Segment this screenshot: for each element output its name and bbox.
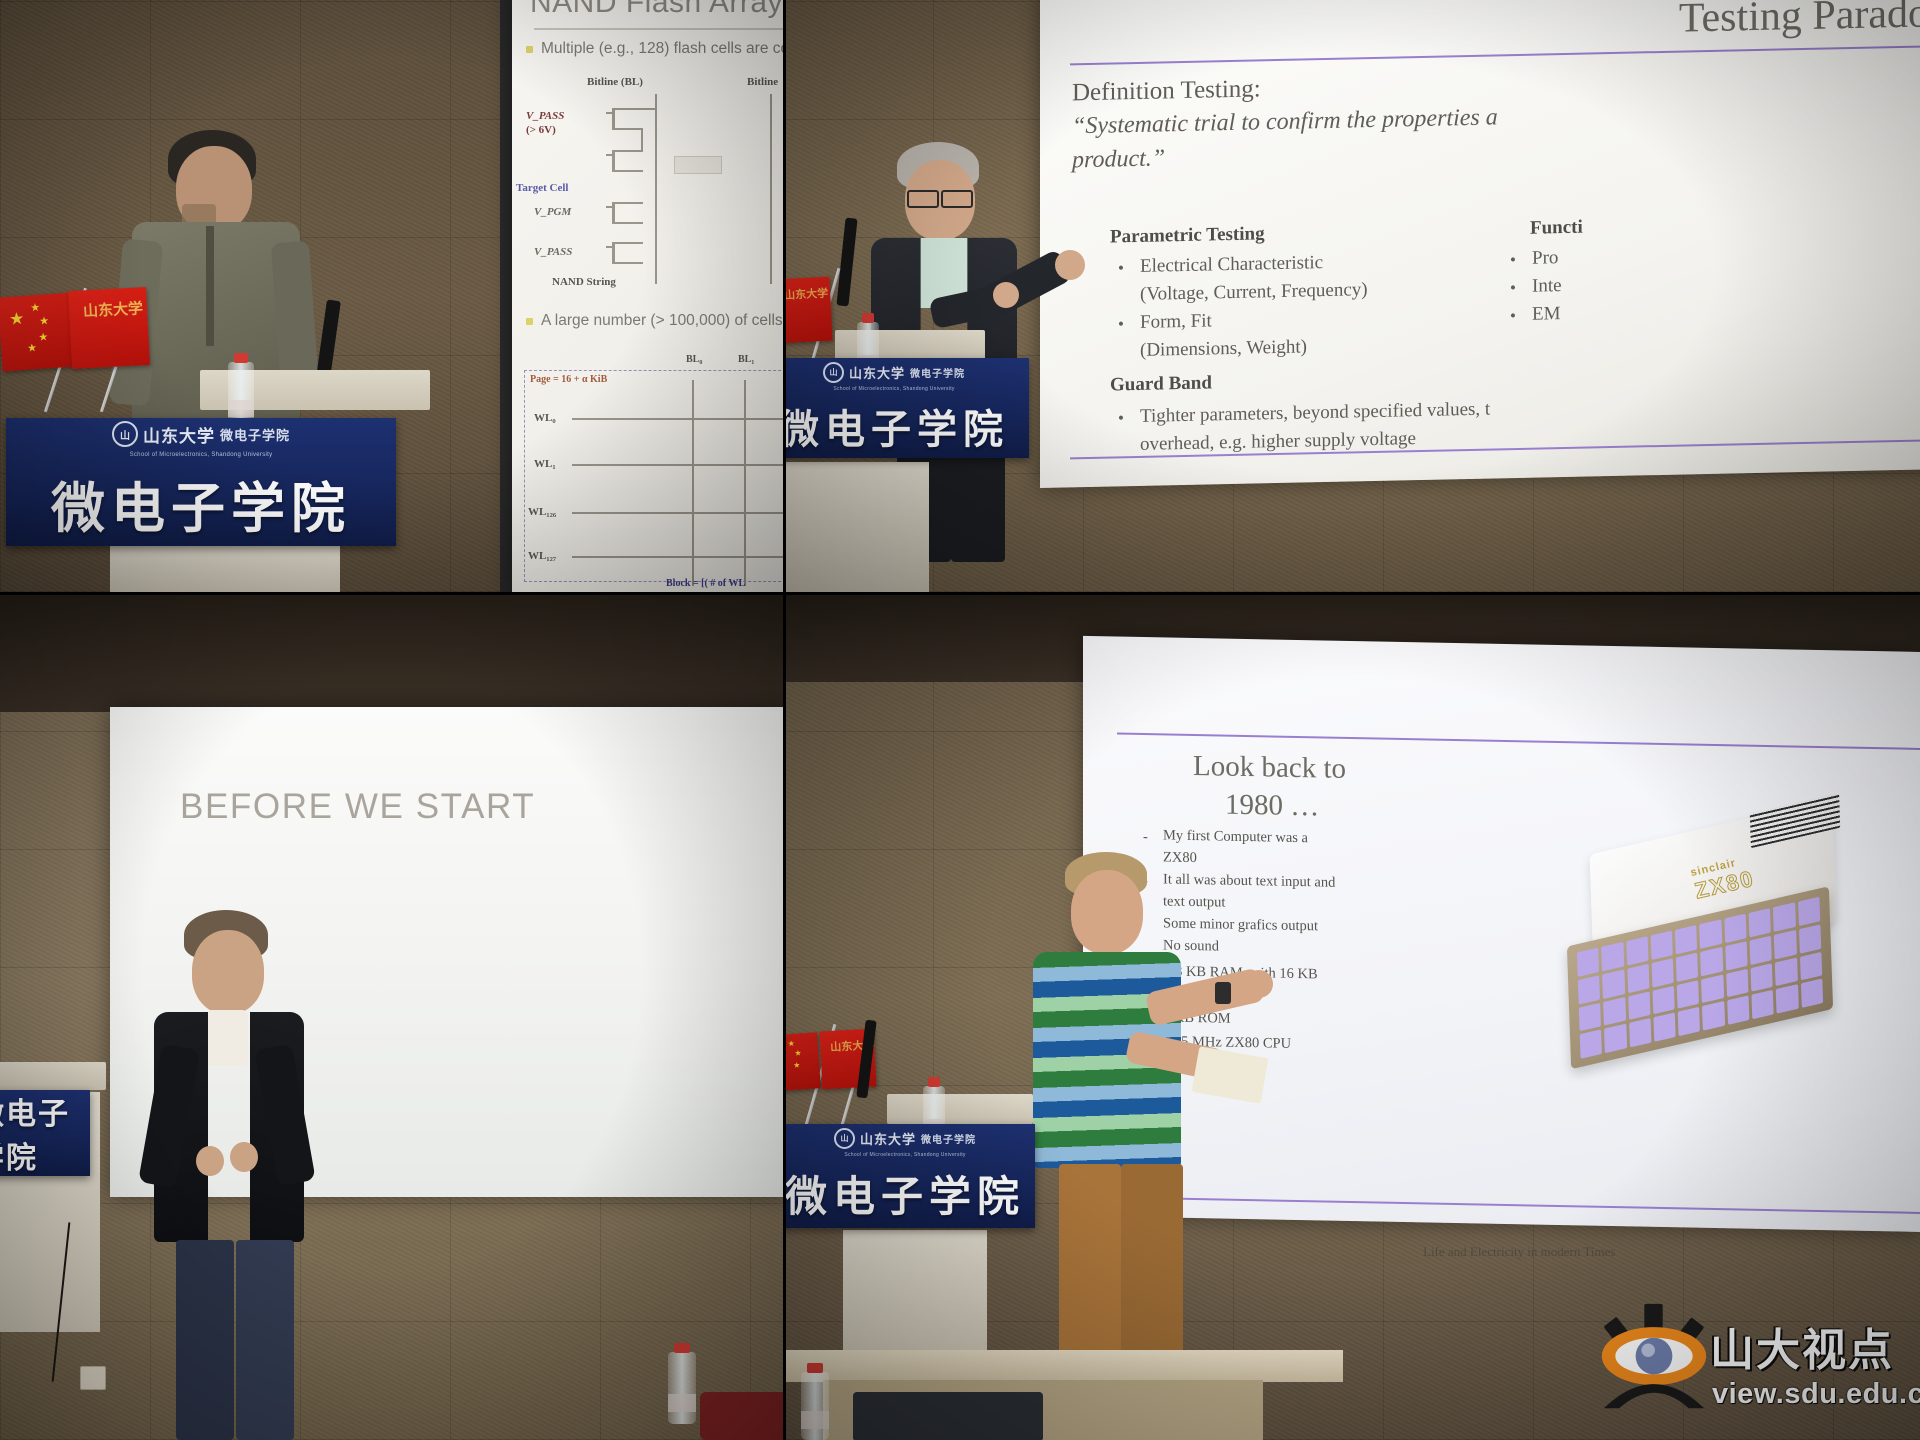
col2-bullet-dot-1: • — [1510, 250, 1516, 270]
arrow-icon — [674, 156, 722, 174]
slide-bullet-2: A large number (> 100,000) of cells — [526, 312, 783, 330]
guard-band-heading: Guard Band — [1110, 372, 1212, 396]
definition-quote-1: “Systematic trial to confirm the propert… — [1072, 104, 1498, 140]
china-national-flag-2: ★ ★ ★ ★ — [783, 1032, 821, 1091]
slide-rule-top-4 — [1117, 733, 1920, 750]
bullet-dot-icon-2 — [526, 318, 533, 325]
podium-top-3 — [0, 1062, 106, 1090]
bitline-0-label: BL₀ — [686, 354, 702, 365]
front-table — [783, 1350, 1343, 1382]
vpass-label: V_PASS — [526, 110, 564, 122]
wall-outlet — [80, 1366, 106, 1390]
guard-bullet-dot: • — [1118, 408, 1124, 428]
page-size-label: Page = 16 + α KiB — [530, 374, 607, 385]
sign-main-text-4: 微电子学院 — [785, 1163, 1025, 1224]
col1-bullet-dot-2: • — [1118, 314, 1124, 334]
sign-crest-2: 山 山东大学 微电子学院 — [823, 362, 965, 383]
vpass-volt-label: (> 6V) — [526, 124, 556, 136]
sinclair-zx80-photo: sinclair ZX80 — [1553, 785, 1883, 1091]
collage-seam-horizontal — [0, 592, 1920, 595]
col2-item-1: Pro — [1532, 247, 1558, 270]
col1-item-1: Electrical Characteristic — [1140, 252, 1323, 278]
sdu-seal-icon-2: 山 — [823, 362, 844, 383]
audience-chair-4 — [853, 1392, 1043, 1440]
sign-main-text: 微电子学院 — [51, 464, 351, 543]
block-label: Block = [( # of WL — [666, 578, 745, 589]
sign-crest: 山 山东大学 微电子学院 — [112, 421, 290, 447]
speaker-black-sweater — [148, 910, 328, 1440]
sign-crest-4: 山 山东大学 微电子学院 — [834, 1128, 976, 1149]
watermark-title: 山大视点 — [1710, 1314, 1894, 1378]
wordline-127-label: WL₁₂₇ — [528, 550, 556, 562]
projection-screen-2: Testing Paradox Definition Testing: “Sys… — [1040, 0, 1920, 488]
channel-watermark: 山大视点 view.sdu.edu.cn — [1590, 1286, 1910, 1436]
panel-before-we-start-lecture: BEFORE WE START 微电子学院 — [0, 592, 783, 1440]
title-rule — [534, 28, 783, 30]
water-bottle-5 — [801, 1372, 829, 1440]
podium-top-4 — [887, 1094, 1033, 1124]
definition-heading: Definition Testing: — [1072, 75, 1261, 107]
col1-item-3: Form, Fit — [1140, 310, 1212, 334]
audience-chair — [700, 1392, 783, 1440]
nand-string-caption: NAND String — [552, 276, 616, 288]
bitline-1-label: BL₁ — [738, 354, 754, 365]
sign-english-subtitle-4: School of Microelectronics, Shandong Uni… — [844, 1152, 965, 1158]
slide-title-3: BEFORE WE START — [180, 787, 535, 827]
slide-title-line2: 1980 … — [1225, 789, 1319, 824]
bitline-caption: Bitline (BL) — [587, 76, 643, 88]
col2-bullet-dot-2: • — [1510, 278, 1516, 298]
sign-main-text-2: 微电子学院 — [783, 397, 1009, 455]
panel-look-back-1980-lecture: Look back to 1980 … - My first Computer … — [783, 592, 1920, 1440]
bottle-label-5 — [801, 1411, 829, 1429]
wristwatch — [1215, 982, 1231, 1004]
parametric-testing-heading: Parametric Testing — [1110, 223, 1265, 248]
bottle-cap-3 — [674, 1343, 690, 1353]
bottle-cap-2 — [862, 313, 874, 323]
podium-sign-4: 山 山东大学 微电子学院 School of Microelectronics,… — [783, 1124, 1035, 1228]
sdu-seal-icon: 山 — [112, 421, 138, 447]
ceiling-soffit — [0, 592, 783, 712]
sign-english-subtitle: School of Microelectronics, Shandong Uni… — [130, 452, 273, 458]
watermark-url: view.sdu.edu.cn — [1712, 1378, 1920, 1411]
functional-testing-heading: Functi — [1530, 217, 1583, 240]
podium-sign-2: 山 山东大学 微电子学院 School of Microelectronics,… — [783, 358, 1029, 458]
definition-quote-2: product.” — [1072, 145, 1165, 174]
col2-item-2: Inte — [1532, 275, 1562, 298]
inner-shirt — [206, 1010, 248, 1066]
slide-rule-top — [1070, 45, 1920, 66]
bitline-caption-2: Bitline — [747, 76, 778, 88]
col1-bullet-dot-1: • — [1118, 258, 1124, 278]
wordline-1-label: WL₁ — [534, 458, 556, 470]
target-cell-label: Target Cell — [516, 182, 568, 194]
shandong-university-flag-2: 山东大学 — [783, 277, 833, 344]
podium-body-2 — [783, 462, 929, 592]
projection-screen: NAND Flash Array Multiple (e.g., 128) fl… — [512, 0, 783, 592]
bottle-cap-5 — [807, 1363, 823, 1373]
shandong-university-flag: 山东大学 — [68, 287, 150, 369]
flag-stand: ★ ★ ★ ★ ★ 山东大学 — [0, 285, 170, 415]
col2-bullet-dot-3: • — [1510, 306, 1516, 326]
slide-bullet-1: Multiple (e.g., 128) flash cells are con… — [526, 40, 783, 58]
nand-string-diagram: Bitline (BL) Bitline V_PASS (> 6V) Targe… — [512, 64, 783, 294]
nand-array-diagram: BL₀ BL₁ BL₂ Page = 16 + α KiB WL₀ WL₁ WL… — [516, 354, 783, 592]
col2-item-3: EM — [1532, 303, 1561, 326]
podium-body-4 — [843, 1230, 987, 1350]
slide-testing-paradox: Testing Paradox Definition Testing: “Sys… — [1040, 0, 1920, 488]
slide-item-1: My first Computer was a — [1163, 827, 1308, 847]
china-national-flag: ★ ★ ★ ★ ★ — [0, 293, 76, 372]
vpass-label-2: V_PASS — [534, 246, 572, 258]
bottle-cap-4 — [928, 1077, 940, 1087]
sign-main-text-3: 微电子学院 — [0, 1090, 90, 1176]
panel-testing-paradox-lecture: Testing Paradox Definition Testing: “Sys… — [783, 0, 1920, 592]
podium-sign-3: 微电子学院 — [0, 1090, 90, 1176]
slide-footer-text: Life and Electricity in modern Times — [1423, 1244, 1615, 1440]
slide-nand-flash-array: NAND Flash Array Multiple (e.g., 128) fl… — [512, 0, 783, 592]
col1-item-4: (Dimensions, Weight) — [1140, 336, 1307, 361]
vpgm-label: V_PGM — [534, 206, 571, 218]
collage-seam-vertical — [783, 0, 786, 1440]
bottle-cap — [234, 353, 249, 363]
bullet-dot-icon — [526, 46, 533, 53]
eye-gear-icon — [1596, 1300, 1712, 1416]
slide-title: NAND Flash Array — [530, 0, 783, 20]
slide-title-2: Testing Paradox — [1679, 0, 1920, 43]
bottle-label — [228, 400, 254, 417]
slide-title-line1: Look back to — [1193, 750, 1346, 786]
wordline-0-label: WL₀ — [534, 412, 556, 424]
col1-item-2: (Voltage, Current, Frequency) — [1140, 279, 1368, 306]
photo-collage: NAND Flash Array Multiple (e.g., 128) fl… — [0, 0, 1920, 1440]
water-bottle-3 — [668, 1352, 696, 1424]
bottle-label-3 — [668, 1394, 696, 1413]
guard-item-1: Tighter parameters, beyond specified val… — [1140, 399, 1490, 428]
podium-body — [110, 540, 340, 592]
sign-english-subtitle-2: School of Microelectronics, Shandong Uni… — [833, 386, 954, 392]
panel-nand-flash-lecture: NAND Flash Array Multiple (e.g., 128) fl… — [0, 0, 783, 592]
podium-sign: 山 山东大学 微电子学院 School of Microelectronics,… — [6, 418, 396, 546]
speaker-striped-polo — [1019, 852, 1249, 1412]
sdu-seal-icon-4: 山 — [834, 1128, 855, 1149]
wordline-126-label: WL₁₂₆ — [528, 506, 556, 518]
